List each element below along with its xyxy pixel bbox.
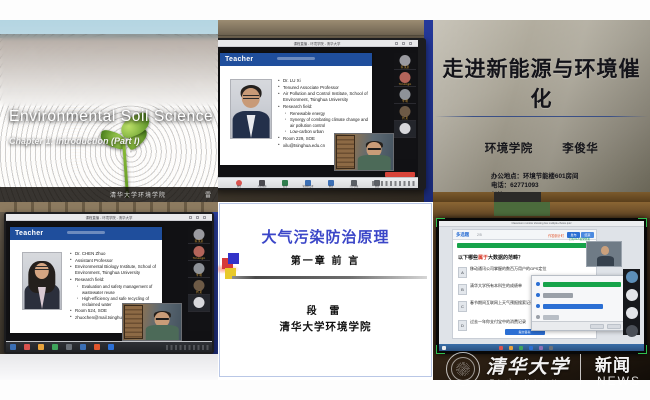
toolbar-label: 管理参会者	[303, 184, 314, 188]
toolbar-label: 共享屏幕	[350, 184, 359, 188]
slide-header-pill	[67, 231, 105, 234]
toolbar-label: 安全	[283, 184, 287, 188]
participant-name: TA Hongjin	[193, 257, 206, 260]
participant-strip[interactable]	[623, 269, 640, 335]
footer-department: 清华大学环境学院	[110, 190, 166, 199]
option-text: 清华大学所有本科生的成绩单	[470, 283, 522, 289]
panel-zoom-chen-zhuo: 课程直播 - 环境学院 - 清华大学 Teacher	[0, 202, 218, 380]
quiz-timer-label: 作答倒计时	[548, 233, 564, 238]
app-icon[interactable]	[519, 346, 523, 350]
avatar	[400, 123, 411, 134]
zoom-toolbar[interactable]: 静音 开启视频 安全 管理参会者 聊天 共享屏幕 录制	[218, 177, 418, 188]
option-key: C	[458, 301, 467, 312]
bullet-item: Research field:	[70, 277, 160, 283]
result-bar	[543, 304, 603, 309]
slide-header-label: Teacher	[15, 230, 43, 237]
app-icon[interactable]	[38, 344, 44, 350]
panel-air-pollution-slide: 大气污染防治原理 第一章 前 言 段 雷 清华大学环境学院	[218, 202, 433, 380]
framing-marker-top-left	[436, 218, 445, 227]
window-close-button[interactable]	[409, 42, 412, 45]
app-icon[interactable]	[549, 346, 553, 350]
system-tray[interactable]	[372, 181, 416, 186]
bullet-item: Tenured Associate Professor	[278, 85, 370, 91]
option-text: 过去一年你支付宝中的消费记录	[470, 319, 526, 325]
bullet-item: Research field:	[278, 104, 370, 110]
wall-panel	[494, 202, 550, 216]
app-icon[interactable]	[66, 344, 72, 350]
app-icon[interactable]	[539, 346, 543, 350]
result-row	[536, 280, 622, 289]
option-key: A	[458, 267, 467, 278]
participant-tile[interactable]: 李 明	[394, 87, 416, 104]
framing-marker-bottom-right	[638, 345, 647, 354]
app-icon[interactable]	[24, 344, 30, 350]
decoration-square-blue	[228, 253, 239, 264]
person-glasses-icon	[368, 148, 380, 150]
bullet-item: Synergy of combating climate change and …	[278, 117, 370, 128]
result-dot	[536, 315, 540, 319]
option-text: 移动通讯公司掌握的数百万用户的GPS定位	[470, 266, 546, 272]
app-icon[interactable]	[80, 344, 86, 350]
presenter-head	[601, 246, 610, 255]
meeting-status-badge	[385, 172, 415, 177]
result-footer	[532, 321, 624, 330]
panel-classroom-quiz: Classroom monitor showing live multiple-…	[433, 202, 650, 380]
slide-title: Environmental Soil Science	[9, 108, 209, 126]
avatar	[194, 246, 205, 257]
monitor-bezel: Classroom monitor showing live multiple-…	[436, 218, 647, 354]
bookshelf-prop	[336, 135, 355, 168]
slide-chapter: 第一章 前 言	[218, 252, 433, 267]
system-tray[interactable]	[166, 345, 210, 350]
toolbar-label: 开启视频	[258, 184, 267, 188]
teacher-portrait	[230, 79, 272, 139]
slide-footer-bar: 清华大学环境学院 雷	[0, 187, 218, 202]
person-glasses-icon	[156, 318, 168, 320]
os-taskbar[interactable]	[6, 341, 212, 352]
participant-tile-active[interactable]	[394, 121, 416, 138]
quiz-question: 以下哪些属于大数据的范畴？	[458, 254, 523, 261]
panel-soil-slide: Environmental Soil Science Chapter 1: In…	[0, 20, 218, 202]
slide-subtitle: Chapter 1: Introduction (Part I)	[9, 136, 209, 146]
participant-tile[interactable]: 刘 某	[188, 278, 210, 295]
option-text: 春节期间互联网上天气预报搜索记录	[470, 300, 534, 306]
participant-name: 李 明	[196, 273, 202, 277]
desk-object	[494, 192, 542, 202]
collage-root: Environmental Soil Science Chapter 1: In…	[0, 0, 650, 400]
laptop-screen: 课程直播 - 环境学院 - 清华大学 Teacher	[6, 214, 212, 352]
participant-name: TA Hongjin	[399, 83, 412, 86]
question-highlight: 属于	[478, 255, 488, 261]
bullet-item: Environmental Biology Institute, School …	[70, 264, 160, 276]
subtitle-department: 环境学院	[485, 143, 533, 155]
title-divider	[232, 276, 427, 279]
result-bar	[543, 282, 621, 287]
participant-tile-active[interactable]	[188, 295, 210, 312]
window-minimize-button[interactable]	[189, 216, 192, 219]
panel-zoom-lu-xi: 课程直播 - 环境学院 - 清华大学 Teacher	[218, 20, 433, 202]
slide-title: 大气污染防治原理	[218, 226, 433, 247]
result-dot	[536, 282, 540, 286]
bullet-item: Dr. CHEN Zhuo	[70, 251, 160, 257]
window-close-button[interactable]	[203, 216, 206, 219]
window-title: 课程直播 - 环境学院 - 清华大学	[86, 215, 133, 220]
result-row	[536, 291, 622, 300]
avatar	[194, 297, 205, 308]
slide-organization: 清华大学环境学院	[218, 319, 433, 334]
window-titlebar: Classroom monitor showing live multiple-…	[439, 221, 644, 227]
slide-author: 段 雷	[218, 302, 433, 317]
room-shelf	[0, 202, 218, 212]
window-titlebar: 课程直播 - 环境学院 - 清华大学	[6, 214, 212, 221]
app-icon[interactable]	[509, 346, 513, 350]
participant-strip[interactable]: 陈 某某 TA Hongjin 李 明 刘 某	[188, 227, 210, 331]
monitor-screen: Classroom monitor showing live multiple-…	[439, 221, 644, 351]
question-suffix: 大数据的范畴？	[488, 255, 523, 261]
quiz-number: 2/5	[477, 233, 482, 237]
self-video-tile[interactable]	[334, 133, 394, 171]
slide-header-bar: Teacher	[10, 227, 162, 240]
option-key: D	[458, 320, 467, 331]
app-icon[interactable]	[499, 346, 503, 350]
desk-surface	[0, 354, 218, 380]
bullet-item: Renewable energy	[278, 111, 370, 117]
app-icon[interactable]	[52, 344, 58, 350]
person-body	[146, 325, 178, 340]
soil-blur-overlay	[0, 34, 218, 106]
framing-marker-bottom-left	[436, 345, 445, 354]
window-titlebar: 课程直播 - 环境学院 - 清华大学	[218, 40, 418, 47]
participant-tile[interactable]: TA Hongjin	[394, 70, 416, 87]
participant-strip[interactable]: 陈 某某 TA Hongjin 李 明 刘 某	[394, 53, 416, 159]
participant-name: 陈 某某	[195, 239, 204, 243]
desk-strip	[433, 192, 650, 202]
office-line: 办公地点：环境节能楼601房间	[491, 172, 590, 181]
bullet-item: Assistant Professor	[70, 258, 160, 264]
window-maximize-button[interactable]	[402, 42, 405, 45]
window-title: Classroom monitor showing live multiple-…	[511, 222, 571, 225]
quiz-type-label: 多选题	[456, 232, 469, 238]
participant-tile[interactable]: TA Hongjin	[188, 244, 210, 261]
subtitle-name: 李俊华	[562, 143, 598, 155]
result-dot	[536, 304, 540, 308]
avatar[interactable]	[626, 271, 638, 283]
self-video-person	[146, 312, 178, 340]
os-taskbar[interactable]	[439, 344, 644, 351]
participant-tile[interactable]: 陈 某某	[188, 227, 210, 244]
toolbar-label: 聊天	[329, 184, 333, 188]
app-icon[interactable]	[94, 344, 100, 350]
slide-header-bar: Teacher	[220, 53, 372, 66]
bullet-item: Dr. LU Xi	[278, 78, 370, 84]
participant-name: 陈 某某	[401, 65, 410, 69]
presenter-video-tile[interactable]	[586, 241, 622, 267]
footer-author: 雷	[205, 190, 212, 199]
room-shelf	[218, 20, 433, 36]
start-icon[interactable]	[10, 344, 16, 350]
avatar[interactable]	[626, 307, 638, 319]
result-close-button[interactable]	[590, 324, 604, 329]
question-prefix: 以下哪些	[458, 255, 478, 261]
title-divider	[435, 116, 648, 117]
slide-header-label: Teacher	[225, 56, 253, 63]
bullet-item: Evaluation and safety management of wast…	[70, 284, 160, 295]
laptop-screen: 课程直播 - 环境学院 - 清华大学 Teacher	[218, 40, 418, 188]
slide-header-pill	[277, 57, 315, 60]
bookshelf-prop	[124, 305, 143, 338]
self-video-person	[358, 142, 390, 170]
option-key: B	[458, 284, 467, 295]
app-icon[interactable]	[529, 346, 533, 350]
participant-tile[interactable]: 刘 某	[394, 104, 416, 121]
avatar[interactable]	[626, 325, 638, 337]
result-row	[536, 302, 622, 311]
window-maximize-button[interactable]	[196, 216, 199, 219]
participant-name: 刘 某	[196, 290, 202, 294]
participant-name: 刘 某	[402, 116, 408, 120]
zoom-stage: Teacher Dr. CHEN Zhuo Assistan	[6, 221, 212, 341]
portrait-head	[35, 263, 49, 280]
portrait-glasses-icon	[34, 266, 49, 269]
result-bar	[543, 315, 559, 320]
laptop-body: 课程直播 - 环境学院 - 清华大学 Teacher	[218, 38, 426, 190]
result-detail-button[interactable]	[607, 324, 621, 329]
participant-tile[interactable]: 李 明	[188, 261, 210, 278]
teacher-portrait	[22, 252, 62, 310]
window-minimize-button[interactable]	[395, 42, 398, 45]
self-video-tile[interactable]	[122, 303, 182, 341]
avatar[interactable]	[626, 289, 638, 301]
person-body	[358, 155, 390, 170]
panel-catalysis-slide: 走进新能源与环境催化 环境学院 李俊华 办公地点：环境节能楼601房间 电话：6…	[433, 20, 650, 202]
portrait-glasses-icon	[243, 95, 259, 98]
slide-title: 走进新能源与环境催化	[433, 53, 650, 113]
presenter-body	[597, 256, 615, 266]
phone-line: 电话：62771093	[491, 181, 590, 190]
quiz-result-panel	[531, 275, 625, 331]
result-dot	[536, 293, 540, 297]
participant-tile[interactable]: 陈 某某	[394, 53, 416, 70]
window-title: 课程直播 - 环境学院 - 清华大学	[294, 41, 341, 46]
result-bar	[543, 293, 573, 298]
toolbar-label: 静音	[237, 184, 241, 188]
participant-name: 李 明	[402, 99, 408, 103]
slide-subtitle: 环境学院 李俊华	[433, 140, 650, 156]
laptop-body: 课程直播 - 环境学院 - 清华大学 Teacher	[4, 212, 214, 354]
bullet-item: Air Pollution and Control Institute, Sch…	[278, 91, 370, 103]
app-icon[interactable]	[108, 344, 114, 350]
framing-marker-top-right	[638, 218, 647, 227]
avatar	[400, 72, 411, 83]
zoom-stage: Teacher Dr. LU Xi Tenured Asso	[218, 47, 418, 177]
quiz-progress-bar: 已有31人提交答案	[457, 243, 592, 248]
